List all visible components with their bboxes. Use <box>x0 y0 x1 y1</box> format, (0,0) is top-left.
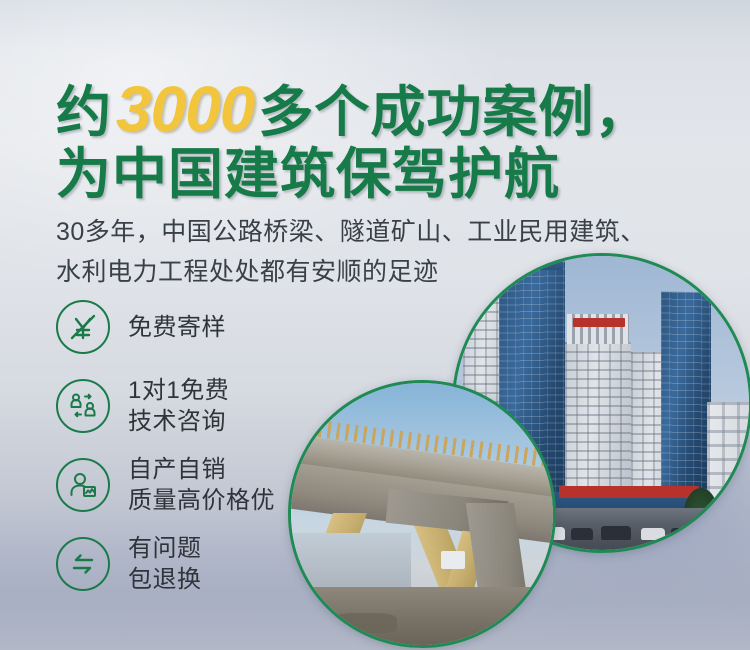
one-on-one-consult-icon <box>56 379 110 433</box>
bridge-distant-truck <box>441 551 465 569</box>
feature-item-free-sample: 免费寄样 <box>56 296 356 358</box>
headline-number: 3000 <box>112 73 258 145</box>
feature-label-line-2: 技术咨询 <box>128 406 229 437</box>
feature-label: 有问题 包退换 <box>128 533 202 595</box>
bridge-debris <box>327 613 397 633</box>
building-car <box>601 526 631 540</box>
building-car <box>571 528 593 540</box>
promo-banner: 约3000多个成功案例， 为中国建筑保驾护航 30多年，中国公路桥梁、隧道矿山、… <box>0 0 750 650</box>
feature-item-consultation: 1对1免费 技术咨询 <box>56 375 356 437</box>
return-exchange-icon <box>56 537 110 591</box>
feature-label: 自产自销 质量高价格优 <box>128 454 275 516</box>
feature-label-line-1: 自产自销 <box>128 454 275 485</box>
building-roof-sign <box>573 318 625 327</box>
building-facade-sign <box>559 486 699 498</box>
feature-label-line-2: 包退换 <box>128 564 202 595</box>
no-fee-yuan-icon <box>56 300 110 354</box>
building-tower-right-glass <box>661 292 711 493</box>
self-produce-sell-icon <box>56 458 110 512</box>
feature-label: 免费寄样 <box>128 312 226 343</box>
feature-label-line-1: 免费寄样 <box>128 314 226 341</box>
headline-line-2: 为中国建筑保驾护航 <box>56 143 560 205</box>
feature-list: 免费寄样 1对1免费 技术咨询 <box>56 296 356 612</box>
headline-suffix: 多个成功案例， <box>258 81 650 143</box>
feature-item-return-exchange: 有问题 包退换 <box>56 533 356 595</box>
feature-label-line-2: 质量高价格优 <box>128 485 275 516</box>
building-tower-left-cap <box>501 256 563 270</box>
building-car <box>671 528 693 540</box>
feature-label-line-1: 有问题 <box>128 533 202 564</box>
feature-label: 1对1免费 技术咨询 <box>128 375 229 437</box>
feature-label-line-1: 1对1免费 <box>128 375 229 406</box>
feature-item-self-production: 自产自销 质量高价格优 <box>56 454 356 516</box>
building-car <box>641 528 665 540</box>
subtitle-line-1: 30多年，中国公路桥梁、隧道矿山、工业民用建筑、 <box>56 212 746 252</box>
headline-prefix: 约 <box>56 81 112 143</box>
headline-line-1: 约3000多个成功案例， <box>56 78 716 143</box>
